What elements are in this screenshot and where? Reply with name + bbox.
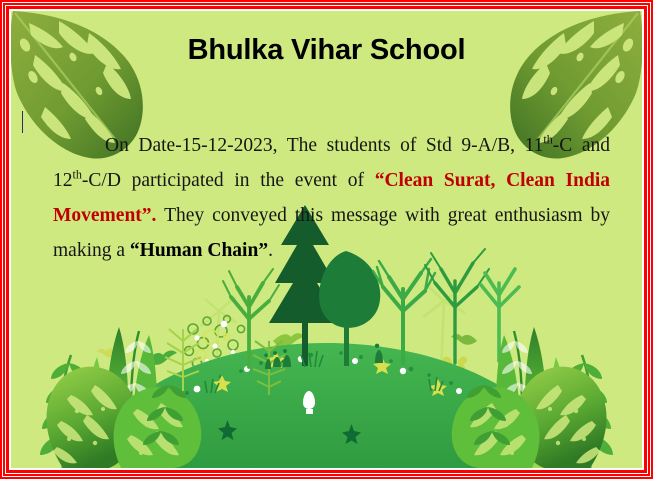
text-cursor	[22, 111, 23, 133]
body-paragraph: On Date-15-12-2023, The students of Std …	[53, 128, 610, 268]
ordinal-suffix: th	[73, 167, 82, 181]
page-canvas: Bhulka Vihar School On Date-15-12-2023, …	[11, 11, 642, 468]
ordinal-suffix: th	[543, 132, 552, 146]
document-page: Bhulka Vihar School On Date-15-12-2023, …	[0, 0, 653, 479]
page-title: Bhulka Vihar School	[11, 33, 642, 67]
activity-name-highlight: “Human Chain”	[130, 240, 268, 261]
event-name-highlight: “Clean Surat, Clean India Movement”.	[53, 170, 610, 226]
